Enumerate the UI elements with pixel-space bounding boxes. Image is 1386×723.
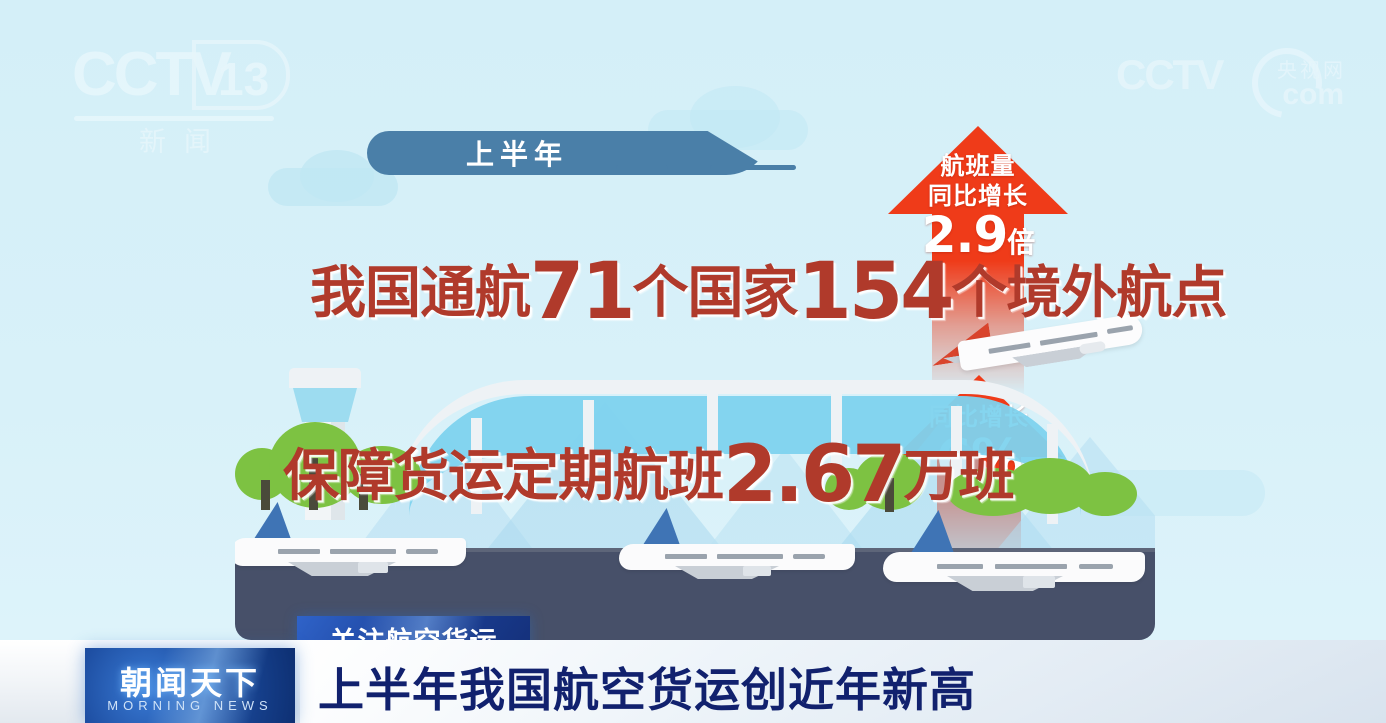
headline1-suffix: 个境外航点 — [951, 261, 1226, 326]
broadcast-screenshot: CCTV 13 新闻 CCTV 央视网 com 上半年 航班量 同比增长 2.9… — [0, 0, 1386, 723]
headline-cargo: 保障货运定期航班2.67万班 — [283, 430, 1013, 520]
airplane-engine — [1023, 576, 1055, 588]
airplane-fuselage — [235, 538, 466, 566]
channel-number: 13 — [218, 52, 269, 106]
airplane-engine — [358, 562, 388, 573]
airplane-windows — [937, 564, 983, 569]
cctv13-logo-watermark: CCTV 13 新闻 — [72, 44, 292, 154]
cctv-com-watermark: CCTV 央视网 com — [1116, 52, 1346, 114]
headline1-prefix: 我国通航 — [310, 261, 530, 326]
cloud-shape — [300, 150, 374, 202]
cctv-domain: com — [1282, 78, 1344, 112]
headline-flights: 我国通航71个国家154个境外航点 — [310, 247, 1226, 337]
program-logo: 朝闻天下 MORNING NEWS — [85, 648, 295, 723]
airplane-door — [1079, 564, 1113, 569]
channel-name-cn: 新闻 — [94, 120, 274, 159]
tower-roof — [289, 368, 361, 388]
news-headline: 上半年我国航空货运创近年新高 — [318, 654, 976, 720]
airplane-windows — [995, 564, 1067, 569]
banner-dash — [616, 165, 668, 170]
airplane-windows — [665, 554, 707, 559]
headline2-number: 2.67 — [723, 430, 903, 520]
headline1-number1: 71 — [530, 247, 633, 337]
period-banner-label: 上半年 — [466, 133, 568, 173]
airplane-door — [793, 554, 825, 559]
headline2-suffix: 万班 — [903, 444, 1013, 509]
parked-airplane — [883, 510, 1155, 580]
airplane-windows — [988, 342, 1030, 354]
program-name-en: MORNING NEWS — [85, 698, 295, 713]
headline1-number2: 154 — [798, 247, 952, 337]
airplane-windows — [278, 549, 320, 554]
airplane-windows — [330, 549, 396, 554]
tower-glass — [293, 388, 357, 422]
banner-dash — [710, 165, 796, 170]
headline2-prefix: 保障货运定期航班 — [283, 444, 723, 509]
headline1-middle: 个国家 — [633, 261, 798, 326]
lower-third-bar: 朝闻天下 MORNING NEWS 上半年我国航空货运创近年新高 — [0, 640, 1386, 723]
airplane-door — [406, 549, 438, 554]
airplane-engine — [743, 566, 771, 576]
airplane-windows — [717, 554, 783, 559]
